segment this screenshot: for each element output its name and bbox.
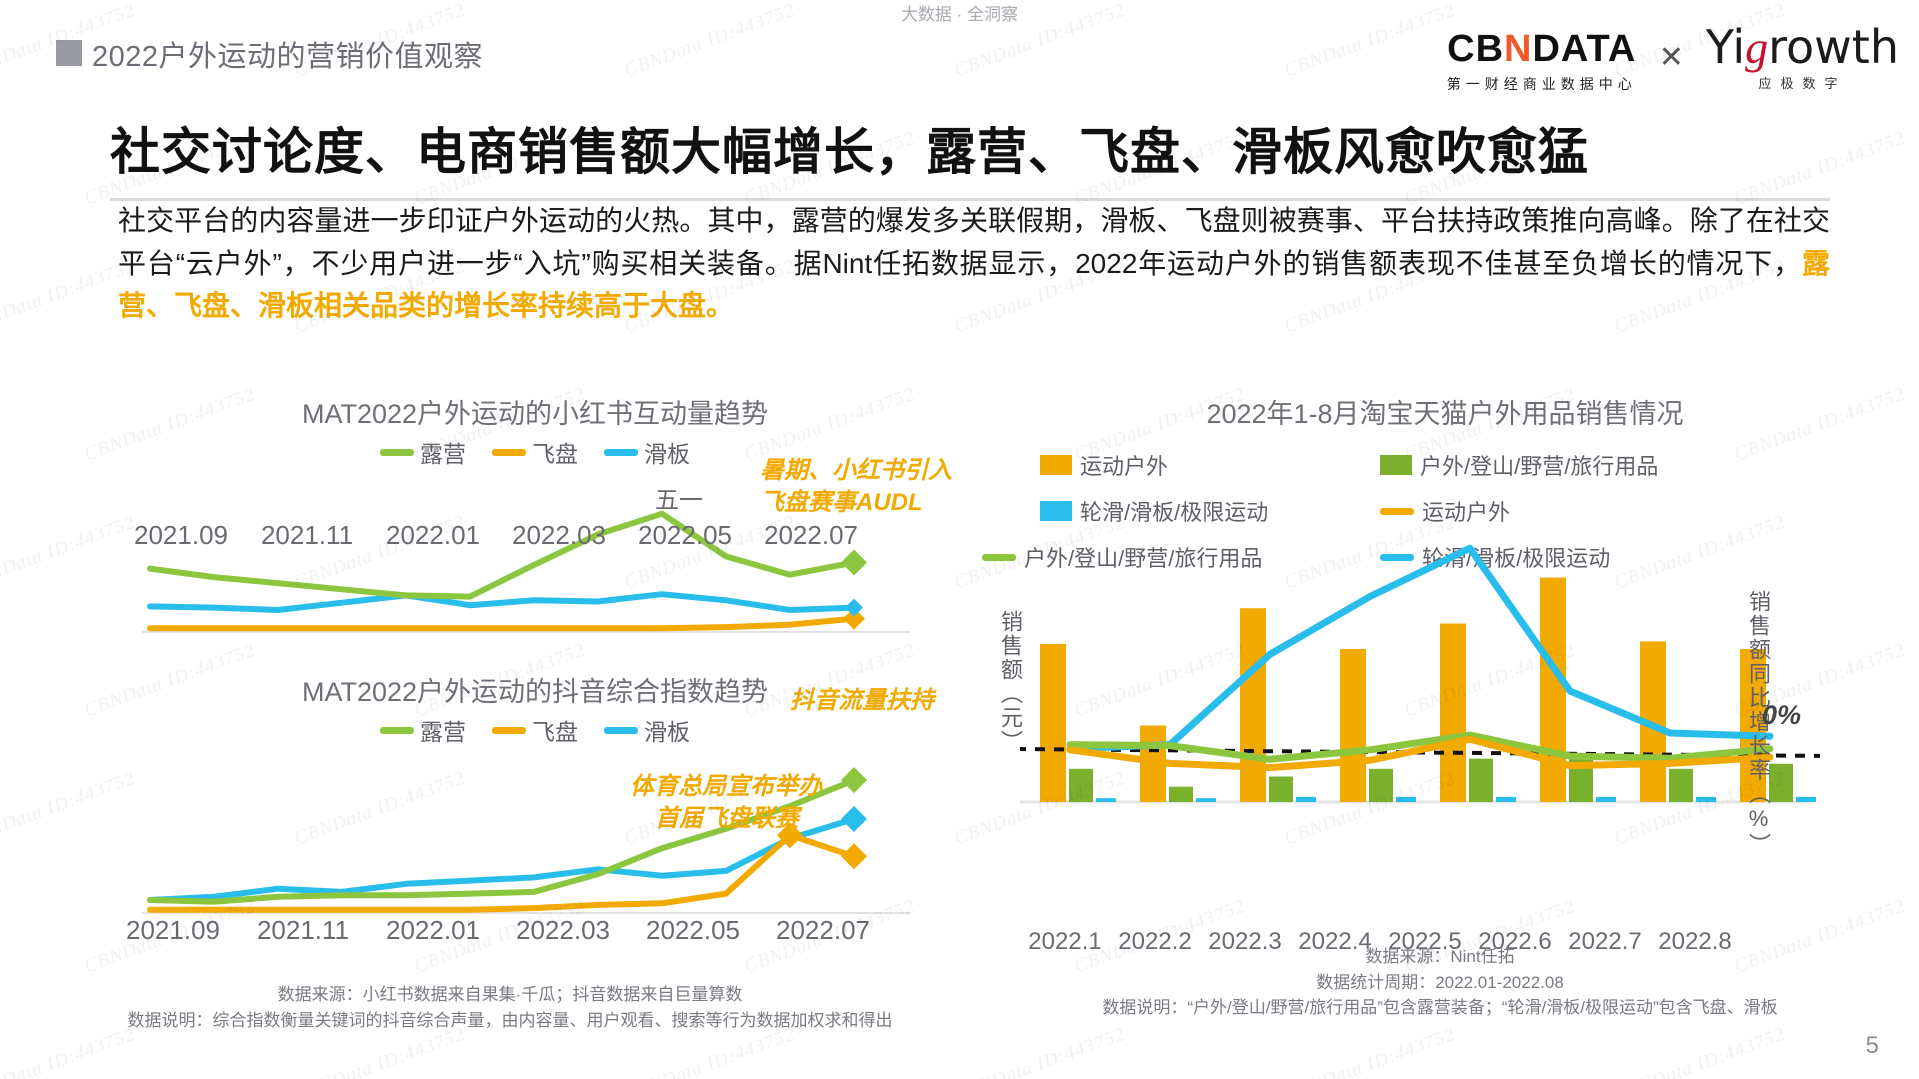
watermark: CBNData ID:443752: [0, 768, 138, 850]
x-tick-label: 2022.05: [628, 915, 758, 946]
watermark: CBNData ID:443752: [1612, 1024, 1789, 1079]
footer-right-source: 数据来源：Nint任拓: [970, 944, 1910, 970]
legend-bar-outdoor-camping: 户外/登山/野营/旅行用品: [1380, 449, 1658, 481]
x-tick-label: 2021.09: [108, 915, 238, 946]
yigrowth-logo: Yigrowth 应极数字: [1706, 22, 1899, 92]
yigrowth-g-glyph: g: [1745, 22, 1768, 73]
chart-douyin-plot: [120, 745, 950, 925]
chart-taobao-ylabel-left: 销售额（元）: [992, 610, 1022, 754]
annotation-summer-audl-line2: 飞盘赛事AUDL: [760, 488, 970, 518]
legend-item-camping: 露营: [380, 435, 466, 469]
annotation-frisbee-league-line1: 体育总局宣布举办: [630, 772, 822, 802]
header-eyebrow-title: 2022户外运动的营销价值观察: [92, 33, 483, 75]
intro-paragraph: 社交平台的内容量进一步印证户外运动的火热。其中，露营的爆发多关联假期，滑板、飞盘…: [118, 200, 1830, 328]
cbndata-post: DATA: [1532, 28, 1636, 70]
legend-swatch-bar-outdoor-camping: [1380, 455, 1412, 475]
chart-taobao-title: 2022年1-8月淘宝天猫户外用品销售情况: [980, 392, 1910, 431]
chart-xiaohongshu-title: MAT2022户外运动的小红书互动量趋势: [120, 392, 950, 431]
x-tick-label: 2021.11: [244, 520, 370, 551]
annotation-summer-audl-line1: 暑期、小红书引入: [760, 456, 970, 486]
chart-douyin-xaxis: 2021.092021.112022.012022.032022.052022.…: [108, 915, 958, 946]
x-tick-label: 2022.03: [498, 915, 628, 946]
chart-xiaohongshu-xaxis: 2021.092021.112022.012022.032022.052022.…: [118, 520, 948, 551]
chart-taobao-zero-label: 0%: [1762, 700, 1801, 731]
x-tick-label: 2022.07: [758, 915, 888, 946]
page-number: 5: [1866, 1032, 1879, 1060]
x-tick-label: 2022.07: [748, 520, 874, 551]
chart-taobao-plot: [1020, 502, 1820, 832]
legend-swatch-line-outdoor-camping: [982, 554, 1016, 561]
page-headline: 社交讨论度、电商销售额大幅增长，露营、飞盘、滑板风愈吹愈猛: [110, 112, 1830, 201]
legend-bar-sports-outdoor: 运动户外: [1040, 449, 1380, 481]
x-tick-label: 2022.05: [622, 520, 748, 551]
legend-swatch-frisbee-douyin: [492, 727, 526, 734]
cbndata-wordmark: CBNDATA: [1447, 30, 1637, 68]
legend-label-skateboard: 滑板: [644, 435, 690, 469]
x-tick-label: 2021.11: [238, 915, 368, 946]
legend-swatch-frisbee: [492, 449, 526, 456]
x-tick-label: 2022.03: [496, 520, 622, 551]
footer-left: 数据来源：小红书数据来自果集·千瓜；抖音数据来自巨量算数 数据说明：综合指数衡量…: [60, 982, 960, 1033]
legend-item-skateboard: 滑板: [604, 435, 690, 469]
yigrowth-post: rowth: [1768, 20, 1899, 74]
x-tick-label: 2022.01: [368, 915, 498, 946]
footer-right: 数据来源：Nint任拓 数据统计周期：2022.01-2022.08 数据说明：…: [970, 944, 1910, 1021]
annotation-douyin-traffic: 抖音流量扶持: [790, 686, 934, 716]
legend-item-camping-douyin: 露营: [380, 713, 466, 747]
legend-label-frisbee: 飞盘: [532, 435, 578, 469]
legend-label-skateboard-douyin: 滑板: [644, 713, 690, 747]
watermark: CBNData ID:443752: [1282, 1024, 1459, 1079]
legend-label-camping: 露营: [420, 435, 466, 469]
annotation-may-holiday: 五一: [655, 480, 703, 515]
legend-item-frisbee: 飞盘: [492, 435, 578, 469]
legend-item-frisbee-douyin: 飞盘: [492, 713, 578, 747]
yigrowth-subtitle: 应极数字: [1706, 73, 1899, 92]
footer-left-note: 数据说明：综合指数衡量关键词的抖音综合声量，由内容量、用户观看、搜索等行为数据加…: [60, 1008, 960, 1034]
x-tick-label: 2021.09: [118, 520, 244, 551]
chart-douyin-legend: 露营 飞盘 滑板: [120, 713, 950, 747]
legend-swatch-skateboard-douyin: [604, 727, 638, 734]
yigrowth-wordmark: Yigrowth: [1706, 24, 1899, 71]
legend-label-bar-sports-outdoor: 运动户外: [1080, 449, 1168, 481]
footer-right-period: 数据统计周期：2022.01-2022.08: [970, 970, 1910, 996]
watermark: CBNData ID:443752: [952, 1024, 1129, 1079]
cbndata-logo: CBNDATA 第一财经商业数据中心: [1447, 22, 1637, 94]
cbndata-x-glyph: N: [1504, 28, 1532, 70]
cross-icon: ✕: [1659, 40, 1684, 75]
legend-swatch-bar-sports-outdoor: [1040, 455, 1072, 475]
page-header: 2022户外运动的营销价值观察 CBNDATA 第一财经商业数据中心 ✕ Yig…: [0, 0, 1919, 100]
legend-swatch-skateboard: [604, 449, 638, 456]
legend-swatch-camping: [380, 449, 414, 456]
paragraph-body: 社交平台的内容量进一步印证户外运动的火热。其中，露营的爆发多关联假期，滑板、飞盘…: [118, 205, 1830, 279]
legend-label-camping-douyin: 露营: [420, 713, 466, 747]
logo-group: CBNDATA 第一财经商业数据中心 ✕ Yigrowth 应极数字: [1447, 22, 1899, 94]
legend-swatch-camping-douyin: [380, 727, 414, 734]
legend-label-frisbee-douyin: 飞盘: [532, 713, 578, 747]
cbndata-pre: CB: [1447, 28, 1504, 70]
yigrowth-pre: Yi: [1706, 20, 1745, 74]
cbndata-subtitle: 第一财经商业数据中心: [1447, 74, 1637, 94]
footer-right-note: 数据说明：“户外/登山/野营/旅行用品”包含露营装备；“轮滑/滑板/极限运动”包…: [970, 995, 1910, 1021]
header-accent-square: [56, 40, 82, 66]
footer-left-source: 数据来源：小红书数据来自果集·千瓜；抖音数据来自巨量算数: [60, 982, 960, 1008]
legend-item-skateboard-douyin: 滑板: [604, 713, 690, 747]
x-tick-label: 2022.01: [370, 520, 496, 551]
legend-label-bar-outdoor-camping: 户外/登山/野营/旅行用品: [1420, 449, 1658, 481]
annotation-frisbee-league-line2: 首届飞盘联赛: [655, 804, 799, 834]
legend-row-1: 运动户外 户外/登山/野营/旅行用品: [1040, 449, 1910, 481]
